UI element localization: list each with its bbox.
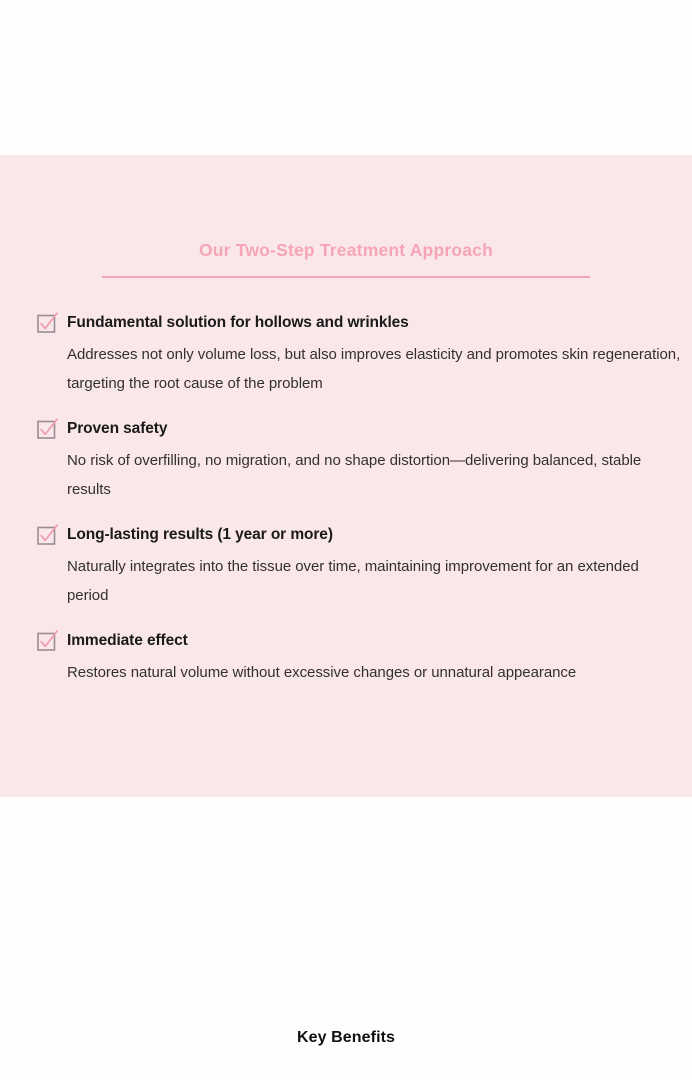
benefit-description: Naturally integrates into the tissue ove… [67, 553, 682, 610]
checkbox-checked-icon [37, 524, 58, 545]
benefit-item: Proven safety No risk of overfilling, no… [0, 417, 692, 504]
checkbox-checked-icon [37, 630, 58, 651]
benefit-description: Addresses not only volume loss, but also… [67, 341, 682, 398]
panel-title: Our Two-Step Treatment Approach [0, 240, 692, 261]
benefit-item: Immediate effect Restores natural volume… [0, 629, 692, 688]
two-step-treatment-panel: Our Two-Step Treatment Approach Fundamen… [0, 155, 692, 797]
benefit-heading: Fundamental solution for hollows and wri… [67, 311, 692, 334]
checkbox-checked-icon [37, 312, 58, 333]
benefit-item: Long-lasting results (1 year or more) Na… [0, 523, 692, 610]
benefit-description: Restores natural volume without excessiv… [67, 659, 682, 688]
benefits-list: Fundamental solution for hollows and wri… [0, 311, 692, 688]
benefit-heading: Long-lasting results (1 year or more) [67, 523, 692, 546]
checkbox-checked-icon [37, 418, 58, 439]
title-divider [102, 276, 590, 278]
benefit-item: Fundamental solution for hollows and wri… [0, 311, 692, 398]
benefit-heading: Immediate effect [67, 629, 692, 652]
benefit-heading: Proven safety [67, 417, 692, 440]
slide-page: Our Two-Step Treatment Approach Fundamen… [0, 0, 692, 1080]
key-benefits-caption: Key Benefits [0, 1029, 692, 1047]
benefit-description: No risk of overfilling, no migration, an… [67, 447, 682, 504]
top-white-area [0, 0, 692, 155]
